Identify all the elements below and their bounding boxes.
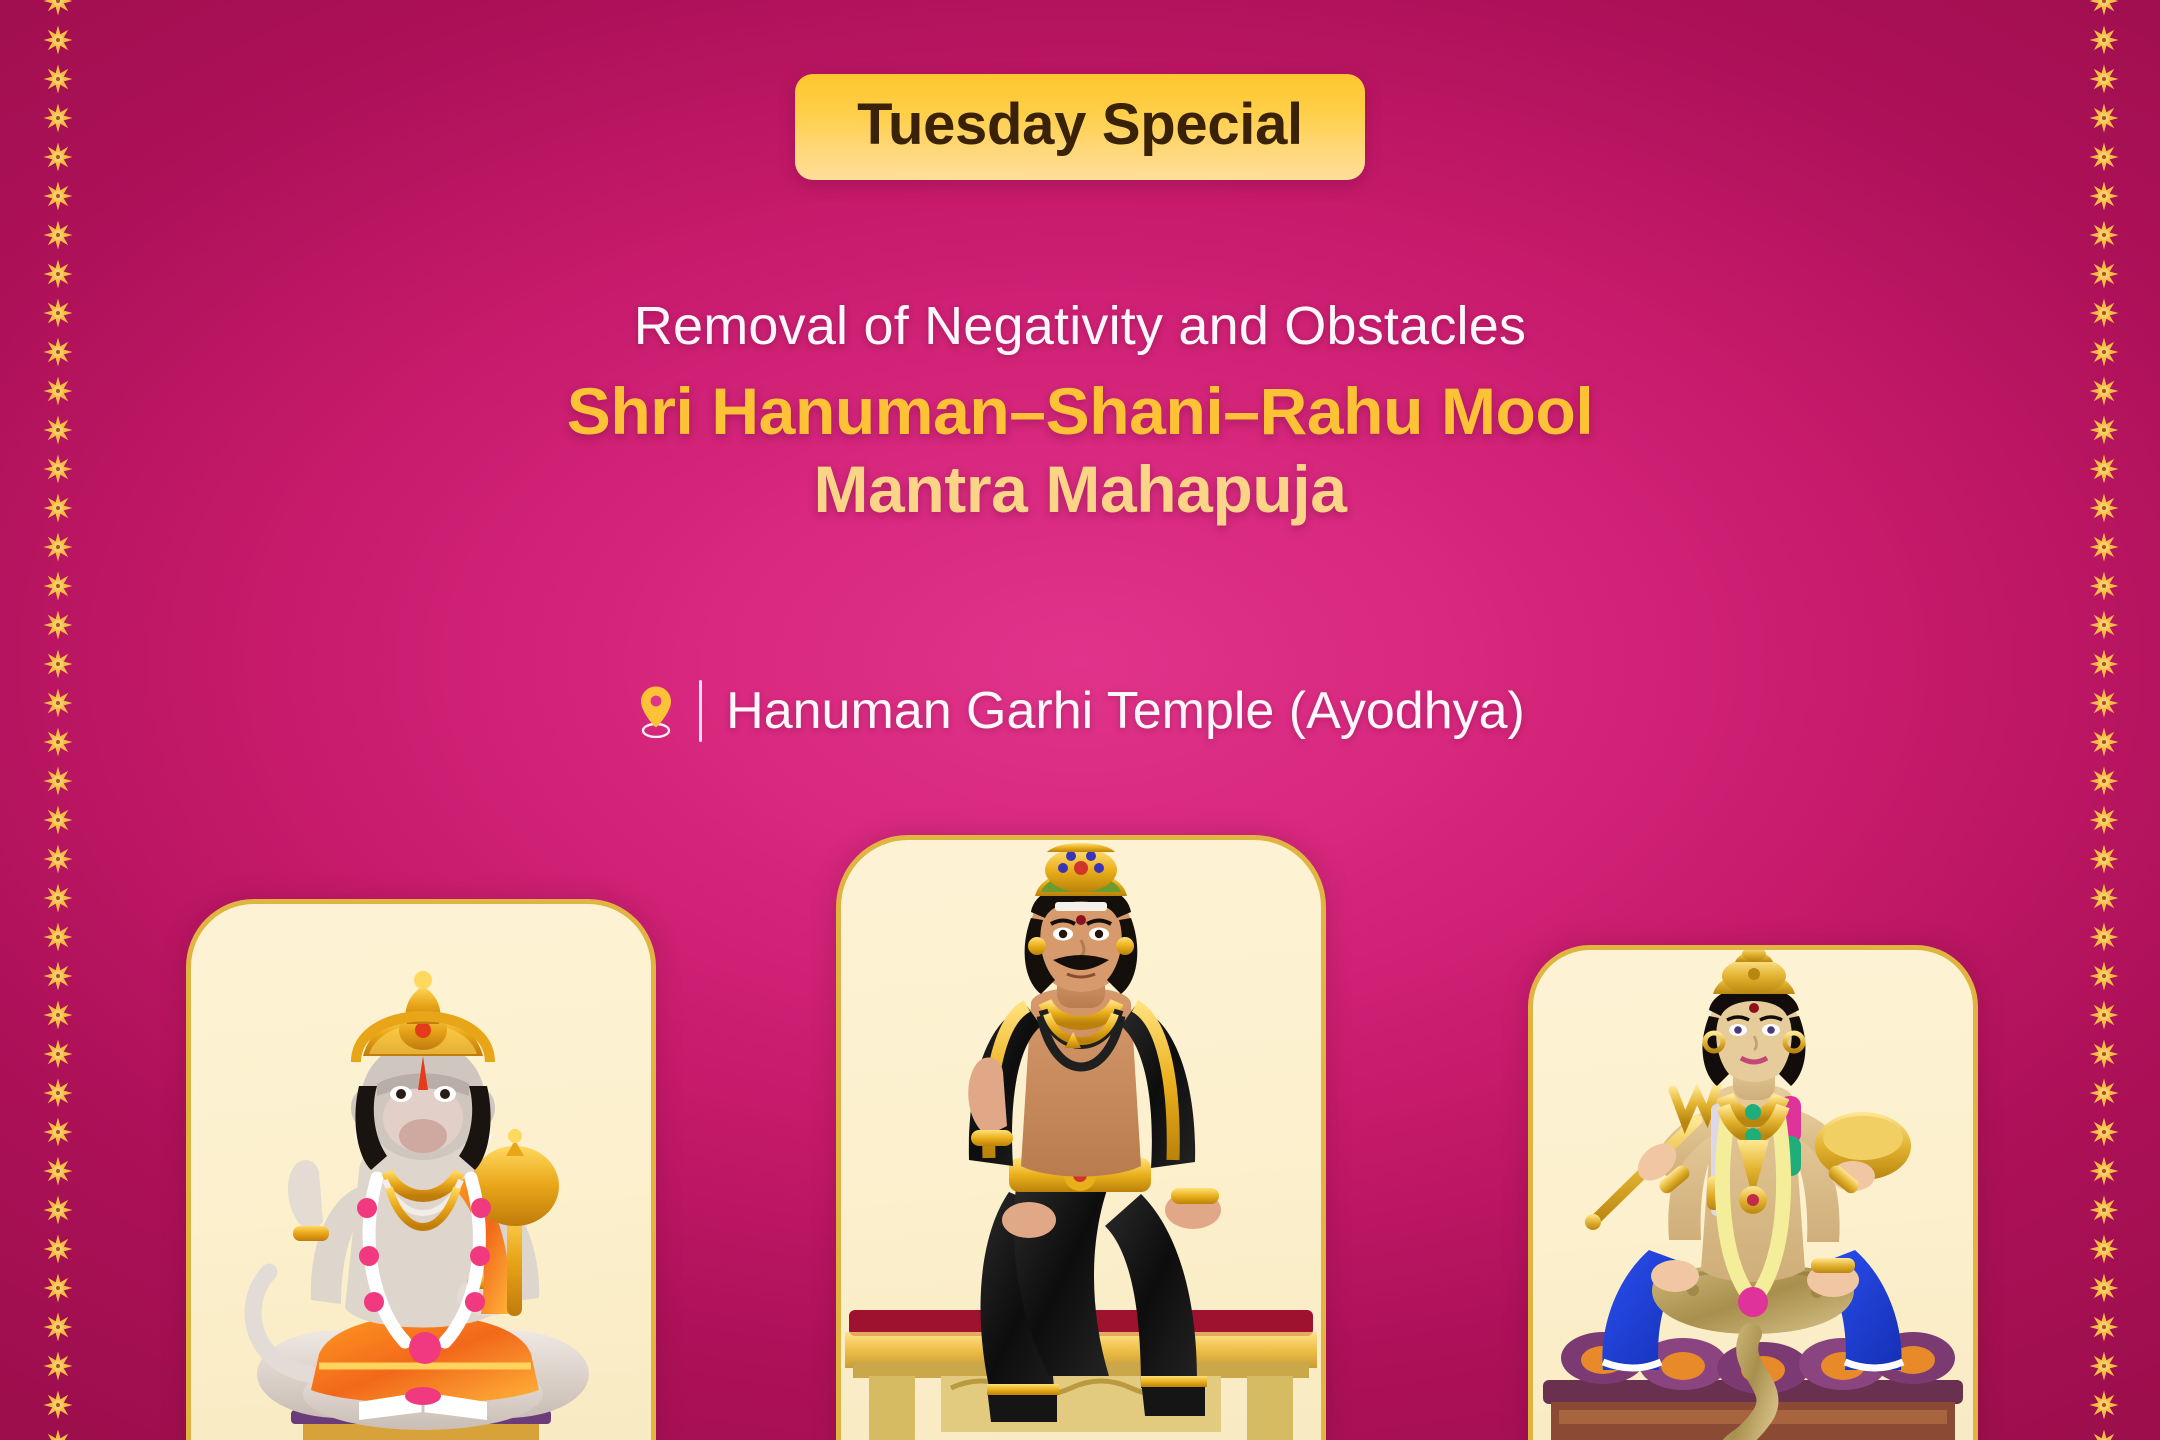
rahu-panel [1528,945,1978,1440]
tuesday-special-badge[interactable]: Tuesday Special [795,74,1365,180]
shani-figure [841,840,1321,1440]
ornament-star-icon [43,220,73,250]
hanuman-figure [191,904,651,1440]
rahu-figure [1533,950,1973,1440]
ornament-star-icon [2089,610,2119,640]
ornament-star-icon [43,181,73,211]
hanuman-panel [186,899,656,1440]
ornament-star-icon [2089,532,2119,562]
ornament-star-icon [2089,220,2119,250]
ornament-star-icon [2089,649,2119,679]
ornament-star-icon [2089,25,2119,55]
ornament-star-icon [2089,571,2119,601]
ornament-star-icon [43,0,73,16]
location-divider [699,680,702,742]
ornament-star-icon [43,571,73,601]
location-label: Hanuman Garhi Temple (Ayodhya) [726,685,1525,737]
title-line-1: Shri Hanuman–Shani–Rahu Mool [0,370,2160,453]
shani-panel [836,835,1326,1440]
ornament-star-icon [43,610,73,640]
ornament-star-icon [43,766,73,796]
ornament-star-icon [2089,181,2119,211]
ornament-star-icon [43,259,73,289]
ornament-star-icon [2089,0,2119,16]
location-pin-icon [635,684,677,738]
ornament-star-icon [43,649,73,679]
deity-panels [0,830,2160,1440]
ornament-star-icon [2089,259,2119,289]
badge-label: Tuesday Special [857,96,1303,154]
heading-block: Removal of Negativity and Obstacles Shri… [0,296,2160,531]
poster-canvas: Tuesday Special Removal of Negativity an… [0,0,2160,1440]
subtitle: Removal of Negativity and Obstacles [0,296,2160,356]
ornament-star-icon [2089,766,2119,796]
badge-container: Tuesday Special [0,74,2160,180]
ornament-star-icon [43,532,73,562]
ornament-star-icon [43,25,73,55]
location-row: Hanuman Garhi Temple (Ayodhya) [0,680,2160,742]
title-line-2: Mantra Mahapuja [0,448,2160,531]
